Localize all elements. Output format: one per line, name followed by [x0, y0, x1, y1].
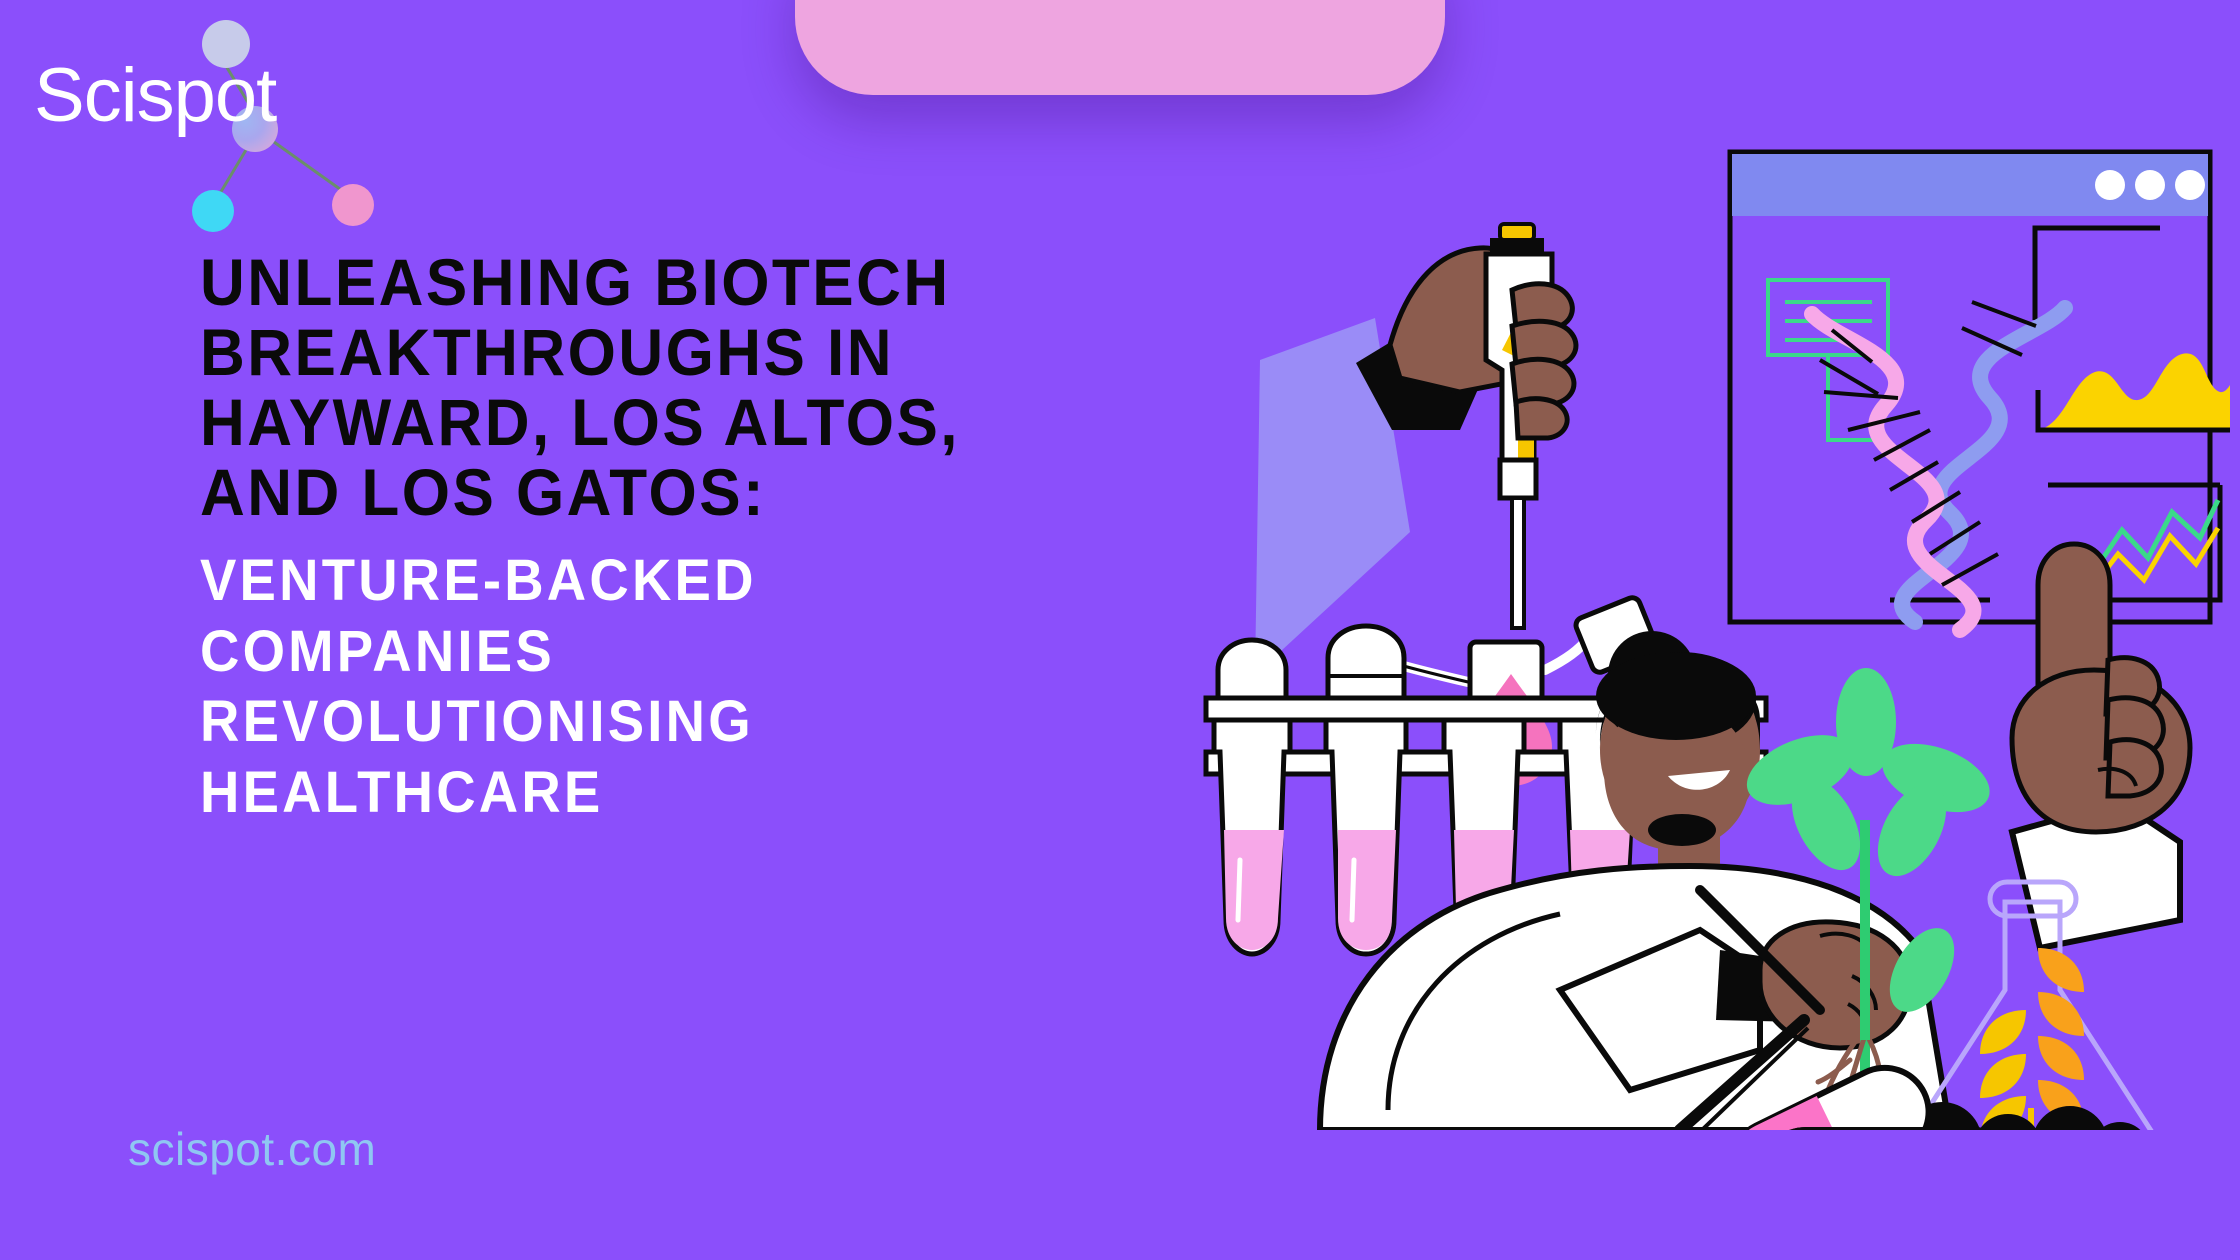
- headline-line-2: BREAKTHROUGHS IN: [200, 315, 894, 389]
- subheadline-line-4: HEALTHCARE: [200, 760, 603, 825]
- headline-line-3: HAYWARD, LOS ALTOS,: [200, 385, 960, 459]
- headline-block: UNLEASHING BIOTECH BREAKTHROUGHS IN HAYW…: [200, 248, 1200, 829]
- subheadline-line-3: REVOLUTIONISING: [200, 689, 754, 754]
- page-title: UNLEASHING BIOTECH BREAKTHROUGHS IN HAYW…: [200, 248, 1140, 528]
- molecule-node-bottom-left-icon: [192, 190, 234, 232]
- biotech-lab-illustration: [1160, 130, 2230, 1130]
- headline-line-4: AND LOS GATOS:: [200, 455, 766, 529]
- browser-window-dashboard-icon: [1730, 152, 2230, 630]
- molecule-node-bottom-right-icon: [332, 184, 374, 226]
- window-dot-2-icon: [2135, 170, 2165, 200]
- window-dot-1-icon: [2095, 170, 2125, 200]
- subheadline-line-2: COMPANIES: [200, 619, 555, 684]
- window-dot-3-icon: [2175, 170, 2205, 200]
- website-url[interactable]: scispot.com: [128, 1122, 376, 1176]
- headline-line-1: UNLEASHING BIOTECH: [200, 245, 951, 319]
- top-pink-tab: [795, 0, 1445, 95]
- scispot-logo[interactable]: Scispot: [24, 8, 384, 208]
- banner-canvas: Scispot UNLEASHING BIOTECH BREAKTHROUGHS…: [0, 0, 2240, 1260]
- logo-wordmark: Scispot: [34, 52, 276, 139]
- subheadline-line-1: VENTURE-BACKED: [200, 548, 757, 613]
- soil-mounds-icon: [1902, 1102, 2152, 1130]
- page-subtitle: VENTURE-BACKED COMPANIES REVOLUTIONISING…: [200, 546, 1140, 829]
- wheat-grains-icon: [1980, 948, 2084, 1130]
